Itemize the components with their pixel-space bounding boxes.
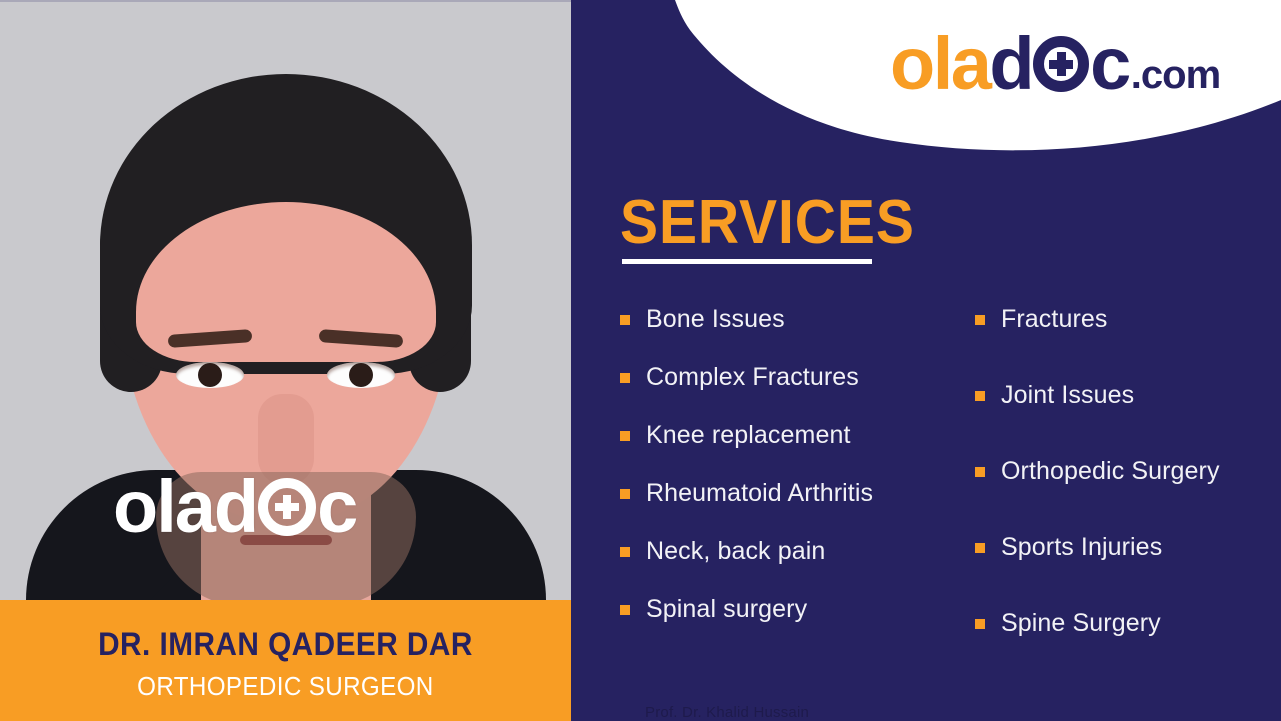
logo-text-c: c <box>1090 27 1129 101</box>
bullet-square-icon <box>975 391 985 401</box>
faint-credit-text: Prof. Dr. Khalid Hussain <box>645 704 809 721</box>
service-label: Neck, back pain <box>646 537 825 566</box>
watermark-text-c: c <box>317 470 356 544</box>
logo-text-d: d <box>989 27 1032 101</box>
service-item[interactable]: Joint Issues <box>975 381 1270 410</box>
bullet-square-icon <box>975 315 985 325</box>
service-label: Joint Issues <box>1001 381 1134 410</box>
doctor-specialty: ORTHOPEDIC SURGEON <box>137 671 433 702</box>
doctor-name-bar: DR. IMRAN QADEER DAR ORTHOPEDIC SURGEON <box>0 600 571 721</box>
service-label: Spinal surgery <box>646 595 807 624</box>
service-item[interactable]: Fractures <box>975 305 1270 334</box>
services-columns: Bone Issues Complex Fractures Knee repla… <box>620 305 1270 685</box>
bullet-square-icon <box>620 373 630 383</box>
oladoc-watermark: oladc <box>113 470 356 544</box>
service-item[interactable]: Neck, back pain <box>620 537 975 566</box>
doctor-photo-panel: oladc <box>0 0 571 600</box>
bullet-square-icon <box>620 315 630 325</box>
portrait-eye-right <box>327 362 395 388</box>
service-item[interactable]: Spinal surgery <box>620 595 975 624</box>
service-item[interactable]: Bone Issues <box>620 305 975 334</box>
watermark-text-d: d <box>214 470 257 544</box>
bullet-square-icon <box>975 619 985 629</box>
bullet-square-icon <box>975 543 985 553</box>
service-item[interactable]: Orthopedic Surgery <box>975 457 1270 486</box>
service-item[interactable]: Complex Fractures <box>620 363 975 392</box>
service-item[interactable]: Rheumatoid Arthritis <box>620 479 975 508</box>
bullet-square-icon <box>620 605 630 615</box>
services-heading: SERVICES <box>620 192 915 254</box>
logo-text-com: .com <box>1131 55 1220 101</box>
doctor-services-card: oladc DR. IMRAN QADEER DAR ORTHOPEDIC SU… <box>0 0 1281 721</box>
oladoc-logo[interactable]: oladc.com <box>890 27 1220 101</box>
service-label: Rheumatoid Arthritis <box>646 479 873 508</box>
bullet-square-icon <box>620 431 630 441</box>
watermark-plus-icon <box>258 478 316 536</box>
service-label: Bone Issues <box>646 305 785 334</box>
watermark-text-ola: ola <box>113 470 214 544</box>
service-label: Knee replacement <box>646 421 851 450</box>
portrait-eye-left <box>176 362 244 388</box>
bullet-square-icon <box>620 547 630 557</box>
services-right-column: Fractures Joint Issues Orthopedic Surger… <box>975 305 1270 685</box>
service-label: Spine Surgery <box>1001 609 1161 638</box>
service-label: Fractures <box>1001 305 1107 334</box>
services-left-column: Bone Issues Complex Fractures Knee repla… <box>620 305 975 685</box>
doctor-name: DR. IMRAN QADEER DAR <box>98 626 473 663</box>
bullet-square-icon <box>975 467 985 477</box>
service-item[interactable]: Knee replacement <box>620 421 975 450</box>
service-label: Sports Injuries <box>1001 533 1162 562</box>
service-item[interactable]: Sports Injuries <box>975 533 1270 562</box>
logo-text-ola: ola <box>890 27 989 101</box>
portrait-hair <box>100 74 472 374</box>
service-label: Orthopedic Surgery <box>1001 457 1220 486</box>
services-heading-underline <box>622 259 872 264</box>
service-item[interactable]: Spine Surgery <box>975 609 1270 638</box>
service-label: Complex Fractures <box>646 363 859 392</box>
bullet-square-icon <box>620 489 630 499</box>
logo-o-plus-icon <box>1033 36 1089 92</box>
